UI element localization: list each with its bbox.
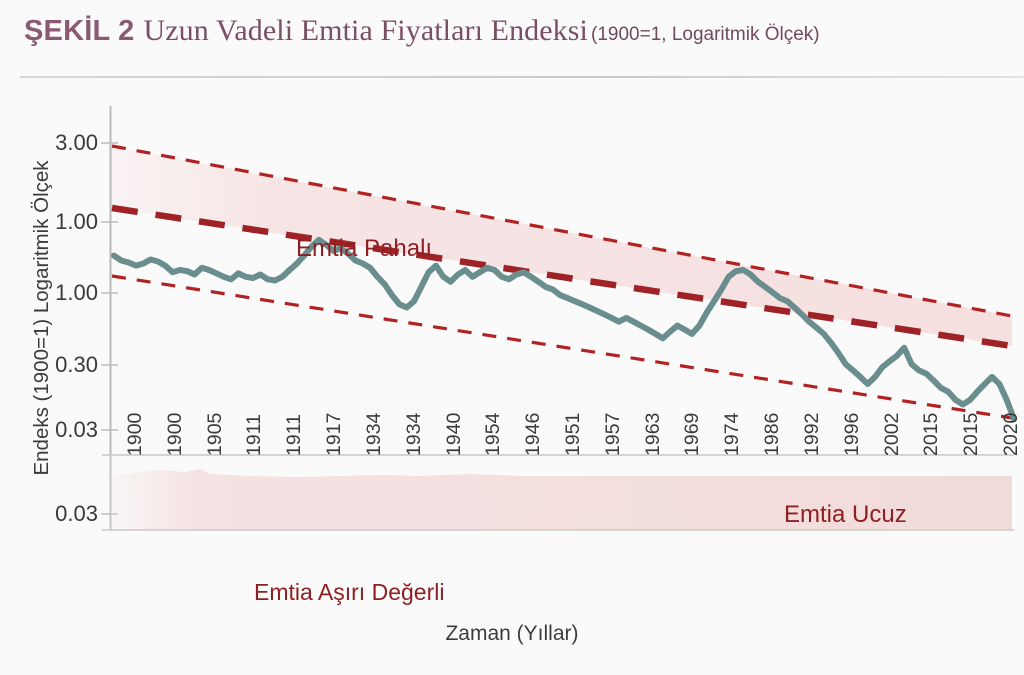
x-axis-tick-label: 1957 (604, 413, 624, 456)
x-axis-title: Zaman (Yıllar) (0, 622, 1024, 646)
x-axis-tick-label: 2002 (883, 413, 903, 456)
figure-subtitle-text: (1900=1, Logaritmik Ölçek) (591, 24, 820, 45)
figure-title-text: Uzun Vadeli Emtia Fiyatları Endeksi (143, 14, 588, 47)
x-axis-tick-label: 1996 (843, 413, 863, 456)
x-axis-tick-labels: 1900190019051911191119171934193419401954… (0, 452, 1024, 562)
annotation-overvalued: Emtia Aşırı Değerli (254, 581, 444, 604)
x-axis-tick-label: 2015 (922, 413, 942, 456)
x-axis-tick-label: 1992 (803, 413, 823, 456)
figure-root: ŞEKİL 2Uzun Vadeli Emtia Fiyatları Endek… (0, 0, 1024, 675)
x-axis-tick-label: 1954 (484, 413, 504, 456)
x-axis-tick-label: 1986 (763, 413, 783, 456)
x-axis-tick-label: 1900 (126, 413, 146, 456)
header-divider (20, 76, 1024, 78)
x-axis-tick-label: 1905 (206, 413, 226, 456)
x-axis-tick-label: 1934 (365, 413, 385, 456)
band-expensive-region (110, 146, 1012, 346)
x-axis-tick-label: 1963 (644, 413, 664, 456)
x-axis-tick-label: 1974 (723, 413, 743, 456)
x-axis-tick-label: 1917 (325, 413, 345, 456)
x-axis-tick-label: 1940 (445, 413, 465, 456)
page-title: ŞEKİL 2Uzun Vadeli Emtia Fiyatları Endek… (24, 14, 820, 48)
x-axis-tick-label: 1969 (683, 413, 703, 456)
x-axis-tick-label: 1934 (405, 413, 425, 456)
x-axis-tick-label: 1911 (285, 414, 305, 456)
x-axis-tick-label: 2020 (1002, 413, 1022, 456)
x-axis-tick-label: 1900 (166, 413, 186, 456)
x-axis-tick-label: 1946 (524, 413, 544, 456)
figure-number-label: ŞEKİL 2 (24, 15, 134, 47)
x-axis-tick-label: 2015 (962, 413, 982, 456)
annotation-expensive: Emtia Pahalı (296, 237, 432, 261)
x-axis-tick-label: 1951 (564, 413, 584, 456)
x-axis-tick-label: 1911 (245, 414, 265, 456)
figure-header: ŞEKİL 2Uzun Vadeli Emtia Fiyatları Endek… (0, 0, 1024, 78)
